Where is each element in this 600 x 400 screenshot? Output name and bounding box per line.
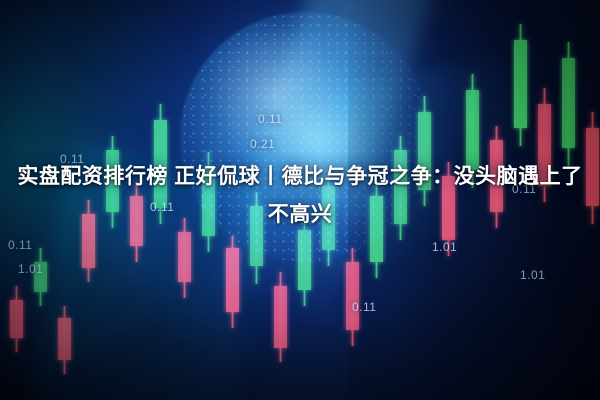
image-canvas: 0.110.210.110.111.010.110.111.011.010.11… (0, 0, 600, 400)
headline-text: 实盘配资排行榜 正好侃球丨德比与争冠之争：没头脑遇上了不高兴 (0, 158, 600, 234)
